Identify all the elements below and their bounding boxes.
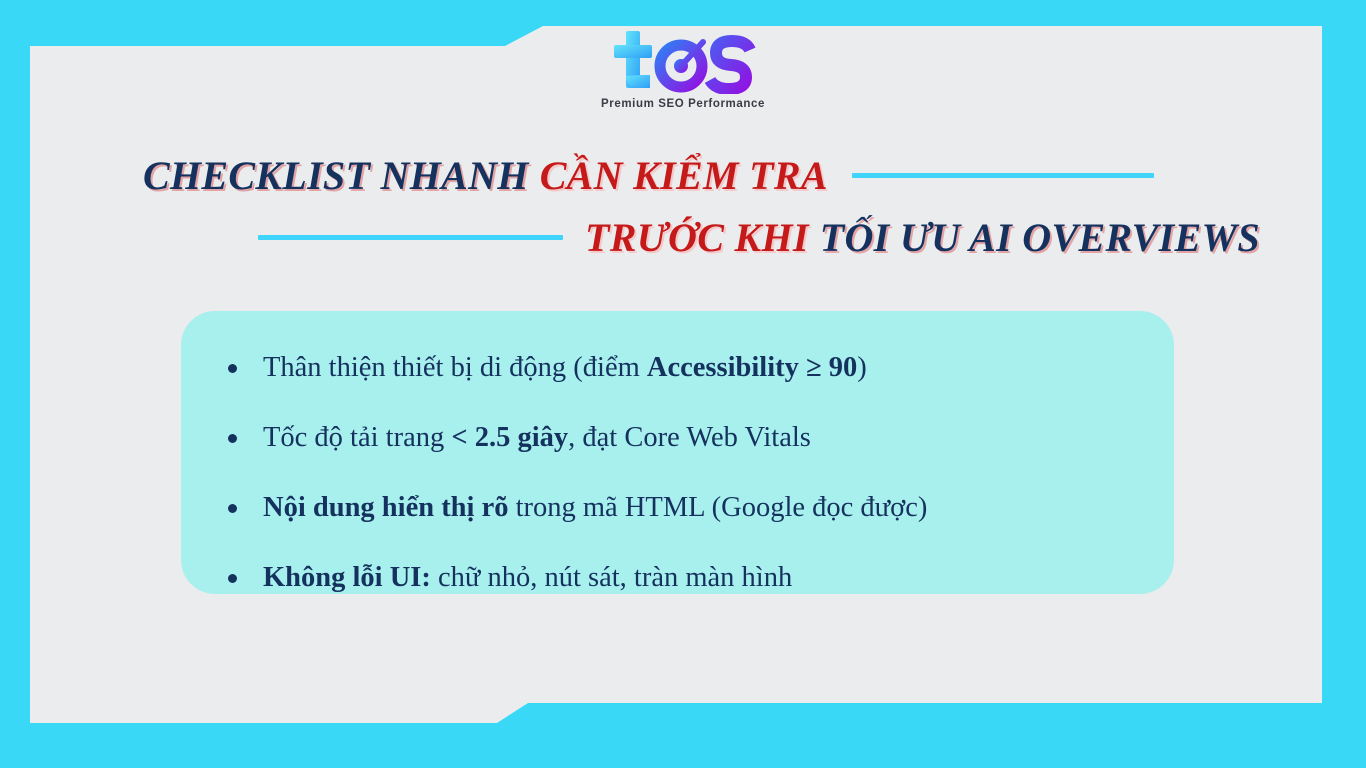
headline-line-2: TRƯỚC KHI TỐI ƯU AI OVERVIEWS <box>258 214 1260 261</box>
checklist-item: Tốc độ tải trang < 2.5 giây, đạt Core We… <box>228 407 1150 468</box>
checklist-item: Thân thiện thiết bị di động (điểm Access… <box>228 337 1150 398</box>
checklist-list: Thân thiện thiết bị di động (điểm Access… <box>228 337 1150 608</box>
checklist-item: Nội dung hiển thị rõ trong mã HTML (Goog… <box>228 477 1150 538</box>
checklist-item-text: trong mã HTML (Google đọc được) <box>508 492 927 523</box>
checklist-item-emphasis: Nội dung hiển thị rõ <box>263 492 508 523</box>
checklist-item-text: Tốc độ tải trang <box>263 422 451 453</box>
headline-line2-part1: TRƯỚC KHI <box>585 214 809 261</box>
bullet-icon <box>228 574 237 583</box>
checklist-item-text: ) <box>857 352 867 383</box>
checklist-card: Thân thiện thiết bị di động (điểm Access… <box>181 311 1174 594</box>
slide-canvas: Premium SEO Performance CHECKLIST NHANH … <box>0 0 1366 768</box>
bullet-icon <box>228 364 237 373</box>
checklist-item-text: , đạt Core Web Vitals <box>568 422 811 453</box>
checklist-item-emphasis: Không lỗi UI: <box>263 562 431 593</box>
bullet-icon <box>228 434 237 443</box>
checklist-item-emphasis: Accessibility ≥ 90 <box>647 352 857 383</box>
headline-rule-left <box>258 235 563 240</box>
headline-block: CHECKLIST NHANH CẦN KIỂM TRA TRƯỚC KHI T… <box>0 152 1366 282</box>
checklist-item-emphasis: < 2.5 giây <box>451 422 568 453</box>
headline-line1-part2: CẦN KIỂM TRA <box>540 152 828 199</box>
headline-line1-part1: CHECKLIST NHANH <box>143 152 529 199</box>
headline-line2-part2: TỐI ƯU AI OVERVIEWS <box>820 214 1260 261</box>
headline-line-1: CHECKLIST NHANH CẦN KIỂM TRA <box>143 152 1154 199</box>
checklist-item-text: Thân thiện thiết bị di động (điểm <box>263 352 647 383</box>
checklist-item-text: chữ nhỏ, nút sát, tràn màn hình <box>431 562 792 593</box>
checklist-item: Không lỗi UI: chữ nhỏ, nút sát, tràn màn… <box>228 547 1150 608</box>
bullet-icon <box>228 504 237 513</box>
headline-rule-right <box>852 173 1154 178</box>
